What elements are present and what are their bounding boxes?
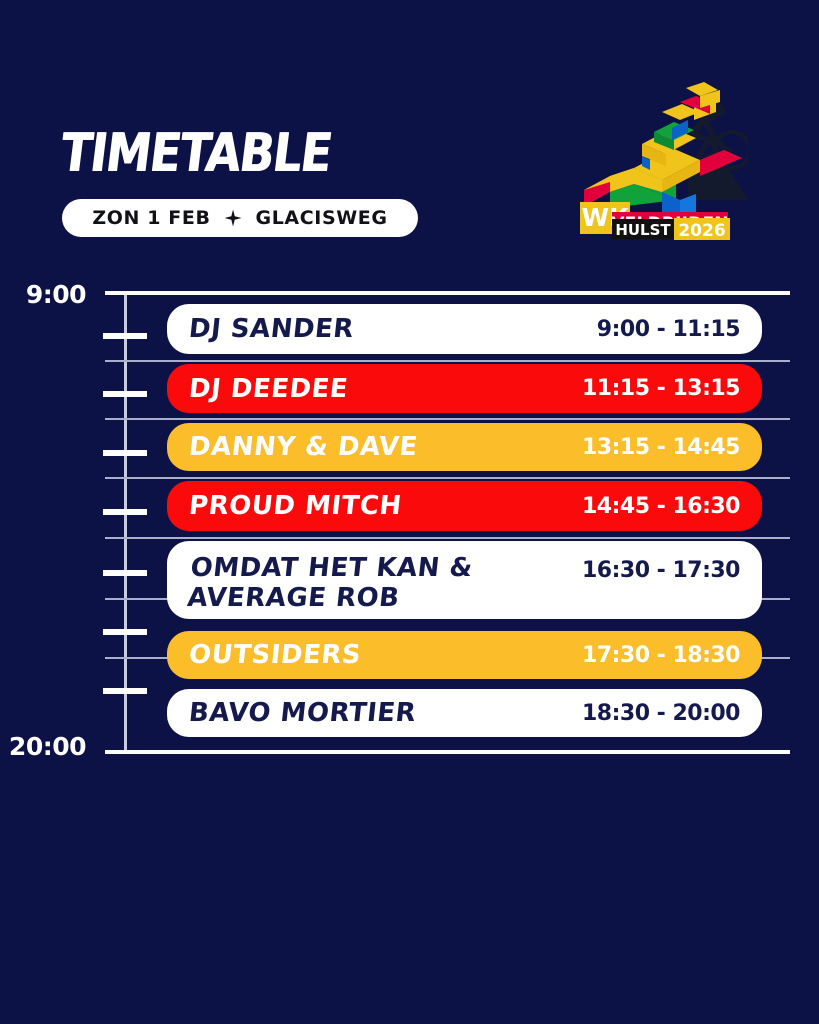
slot-time: 11:15 - 13:15 (582, 376, 740, 401)
svg-text:HULST: HULST (615, 221, 671, 239)
slot-artist: PROUD MITCH (187, 491, 567, 521)
timetable-slot[interactable]: PROUD MITCH 14:45 - 16:30 (167, 481, 762, 531)
axis-tick (103, 570, 147, 576)
slot-artist: BAVO MORTIER (187, 698, 567, 728)
wk-veldrijden-hulst-2026-logo: WK VELDRIJDEN HULST 2026 (576, 72, 748, 242)
timeline-endline-top (105, 291, 790, 295)
axis-label-start: 9:00 (0, 280, 86, 309)
timetable-slot[interactable]: DJ SANDER 9:00 - 11:15 (167, 304, 762, 354)
event-date: ZON 1 FEB (92, 207, 210, 229)
slot-time: 17:30 - 18:30 (582, 643, 740, 668)
slot-artist: DANNY & DAVE (187, 432, 567, 462)
timetable-slot[interactable]: OUTSIDERS 17:30 - 18:30 (167, 631, 762, 679)
gridline (105, 360, 790, 362)
timetable-slot[interactable]: DJ DEEDEE 11:15 - 13:15 (167, 364, 762, 413)
four-point-star-icon (225, 210, 242, 227)
cyclist-icon (678, 103, 748, 200)
axis-tick (103, 391, 147, 397)
timetable-slot[interactable]: BAVO MORTIER 18:30 - 20:00 (167, 689, 762, 737)
axis-tick (103, 688, 147, 694)
slot-artist: DJ DEEDEE (187, 374, 567, 404)
event-location: GLACISWEG (256, 207, 388, 229)
logo-artwork: WK VELDRIJDEN HULST 2026 (576, 72, 748, 242)
slot-artist: DJ SANDER (187, 314, 582, 344)
axis-tick (103, 333, 147, 339)
slot-time: 9:00 - 11:15 (597, 317, 740, 342)
logo-badges: WK VELDRIJDEN HULST 2026 (580, 202, 730, 241)
slot-time: 16:30 - 17:30 (582, 558, 740, 583)
slot-time: 13:15 - 14:45 (582, 435, 740, 460)
timeline-endline-bottom (105, 750, 790, 754)
timetable: 9:00 20:00 DJ SANDER 9:00 - 11:15 DJ DEE… (0, 260, 819, 780)
page-title: TIMETABLE (57, 126, 333, 179)
gridline (105, 537, 790, 539)
event-info-pill: ZON 1 FEB GLACISWEG (62, 199, 418, 237)
slot-artist: OUTSIDERS (187, 640, 567, 670)
axis-tick (103, 509, 147, 515)
timetable-slot[interactable]: DANNY & DAVE 13:15 - 14:45 (167, 423, 762, 471)
slot-time: 14:45 - 16:30 (582, 494, 740, 519)
timetable-slot[interactable]: OMDAT HET KAN & AVERAGE ROB 16:30 - 17:3… (167, 541, 762, 619)
gridline (105, 477, 790, 479)
axis-label-end: 20:00 (0, 732, 86, 761)
svg-text:2026: 2026 (678, 221, 725, 241)
slot-time: 18:30 - 20:00 (582, 701, 740, 726)
header: TIMETABLE ZON 1 FEB GLACISWEG (0, 0, 819, 260)
axis-tick (103, 629, 147, 635)
axis-tick (103, 450, 147, 456)
gridline (105, 418, 790, 420)
slot-artist: OMDAT HET KAN & AVERAGE ROB (186, 553, 569, 613)
